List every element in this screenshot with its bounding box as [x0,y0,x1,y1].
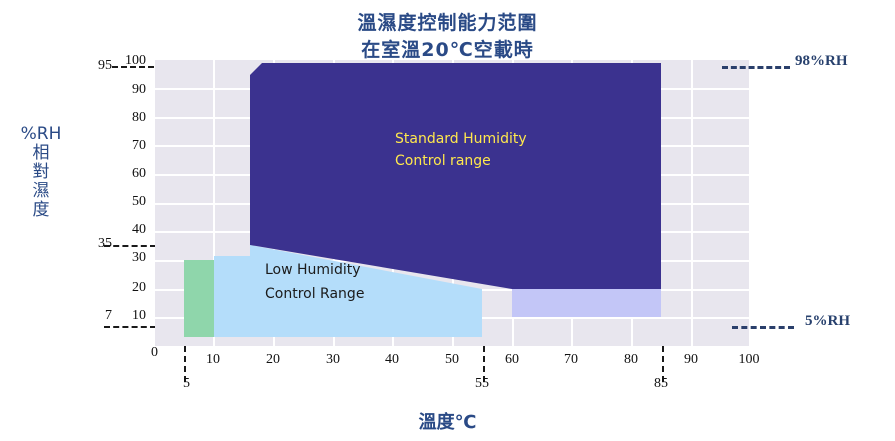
y-axis-title-char-1: 對 [18,163,64,182]
x-tick-50: 50 [432,352,472,368]
y-note-35: 35 [72,236,112,252]
y-guide-95 [112,66,154,68]
y-axis-title-char-0: 相 [18,144,64,163]
x-note-55: 55 [449,376,489,392]
y-tick-10: 10 [132,308,146,324]
y-tick-90: 90 [132,82,146,98]
x-tick-30: 30 [313,352,353,368]
y-tick-20: 20 [132,280,146,296]
x-axis-tick-labels: 10 20 30 40 50 60 70 80 90 100 [155,352,795,374]
x-tick-10: 10 [193,352,233,368]
x-note-5: 5 [150,376,190,392]
label-standard-line1: Standard Humidity [395,128,527,150]
x-tick-20: 20 [253,352,293,368]
y-tick-70: 70 [132,138,146,154]
label-low-line1: Low Humidity [265,258,364,282]
y-axis-title-char-2: 濕 [18,182,64,201]
rh-bottom-label: 5%RH [805,313,850,330]
y-axis-title-unit: %RH [21,124,62,144]
x-tick-60: 60 [492,352,532,368]
x-tick-90: 90 [671,352,711,368]
label-standard-line2: Control range [395,150,527,172]
y-tick-80: 80 [132,110,146,126]
x-tick-70: 70 [551,352,591,368]
x-note-85: 85 [628,376,668,392]
rh-top-label: 98%RH [795,53,848,70]
y-axis-title: %RH 相 對 濕 度 [18,125,64,220]
y-note-7: 7 [72,308,112,324]
label-standard-humidity: Standard Humidity Control range [395,128,527,172]
label-low-line2: Control Range [265,282,364,306]
y-note-95: 95 [72,58,112,74]
y-tick-50: 50 [132,194,146,210]
y-tick-40: 40 [132,222,146,238]
y-guide-7 [104,326,156,328]
y-tick-60: 60 [132,166,146,182]
y-tick-30: 30 [132,250,146,266]
region-standard-humidity [155,60,751,346]
plot-area: Standard Humidity Control range Low Humi… [155,60,751,346]
y-axis-title-char-3: 度 [18,201,64,220]
x-axis-title: 溫度℃ [0,408,895,434]
x-tick-100: 100 [729,352,769,368]
y-guide-35 [104,245,156,247]
chart-title: 溫濕度控制能力范圍 [0,8,895,35]
label-low-humidity: Low Humidity Control Range [265,258,364,306]
x-tick-40: 40 [372,352,412,368]
x-tick-80: 80 [611,352,651,368]
